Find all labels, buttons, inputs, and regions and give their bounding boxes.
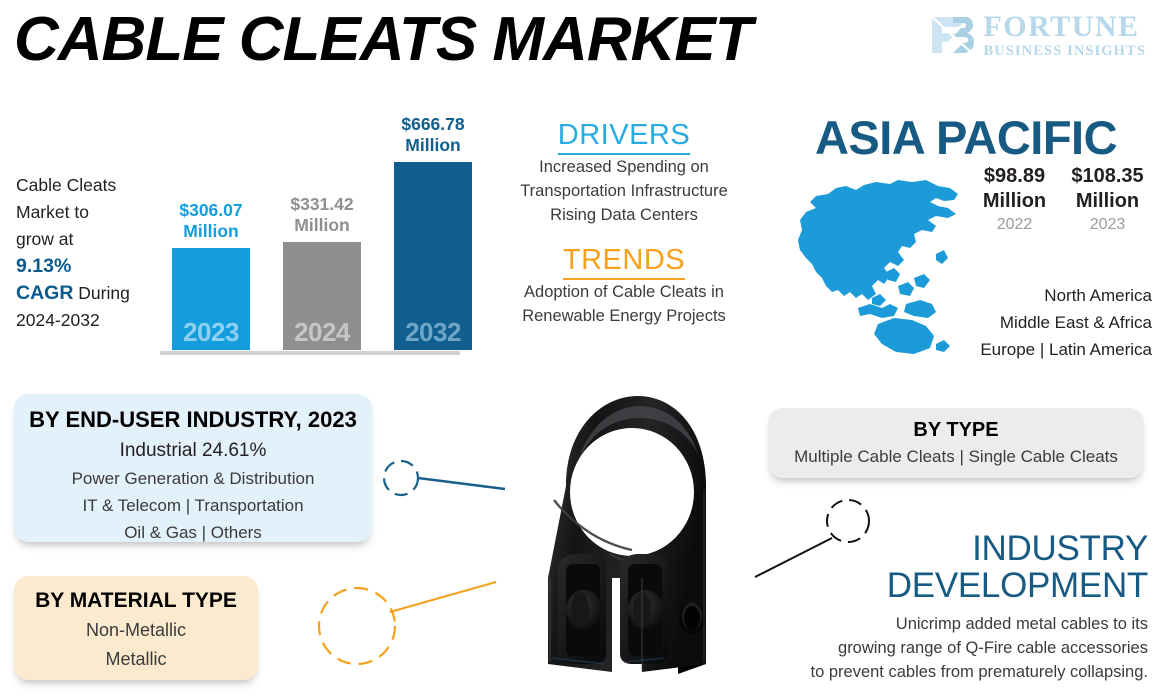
- by-type-box: BY TYPE Multiple Cable Cleats | Single C…: [768, 408, 1144, 478]
- chart-bars: 2023$306.07Million2024$331.42Million2032…: [160, 170, 460, 350]
- other-region-0: North America: [930, 282, 1152, 309]
- market-size-bar-chart: 2023$306.07Million2024$331.42Million2032…: [160, 118, 460, 358]
- by-end-user-industry-line-1: IT & Telecom | Transportation: [14, 492, 372, 519]
- brand-logo: FORTUNE BUSINESS INSIGHTS: [929, 12, 1146, 59]
- by-type-title: BY TYPE: [768, 408, 1144, 444]
- fortune-business-insights-logo-icon: [929, 13, 975, 57]
- drivers-item-1: Transportation Infrastructure: [478, 179, 770, 203]
- connector-enduser-circle-icon: [384, 461, 418, 495]
- spacer: [478, 227, 770, 243]
- cagr-line-1: Cable Cleats: [16, 175, 116, 195]
- industry-development-title-line-1: INDUSTRY: [780, 530, 1148, 567]
- chart-bar-value: $331.42: [290, 194, 353, 214]
- chart-bar-value: $666.78: [401, 114, 464, 134]
- cagr-rate: 9.13%: [16, 255, 71, 277]
- cagr-label: CAGR: [16, 282, 73, 304]
- brand-name-secondary: BUSINESS INSIGHTS: [983, 44, 1146, 59]
- region-figure-unit: Million: [972, 189, 1057, 214]
- industry-development-title-line-2: DEVELOPMENT: [780, 567, 1148, 604]
- chart-bar-group: 2023: [172, 170, 250, 350]
- other-regions-list: North America Middle East & Africa Europ…: [930, 282, 1152, 363]
- trends-heading: TRENDS: [563, 243, 685, 280]
- chart-bar-group: 2032: [394, 170, 472, 350]
- connector-material-circle-icon: [319, 588, 395, 664]
- chart-bar: 2024: [283, 242, 361, 350]
- page-title: CABLE CLEATS MARKET: [14, 4, 752, 75]
- region-figure-year: 2023: [1065, 214, 1150, 236]
- by-material-type-title: BY MATERIAL TYPE: [14, 576, 258, 616]
- region-title: ASIA PACIFIC: [780, 112, 1152, 164]
- infographic-canvas: CABLE CLEATS MARKET FORTUNE BUSINESS INS…: [0, 0, 1160, 700]
- chart-bar: 2032: [394, 162, 472, 350]
- drivers-trends-panel: DRIVERS Increased Spending on Transporta…: [478, 118, 770, 328]
- cagr-period: 2024-2032: [16, 310, 100, 330]
- region-figure-year: 2022: [972, 214, 1057, 236]
- by-end-user-industry-highlight: Industrial 24.61%: [14, 436, 372, 465]
- chart-bar-value: $306.07: [179, 200, 242, 220]
- region-figure-1: $108.35 Million 2023: [1065, 164, 1150, 236]
- region-figure-0: $98.89 Million 2022: [972, 164, 1057, 236]
- cagr-during: During: [78, 283, 130, 303]
- brand-logo-text: FORTUNE BUSINESS INSIGHTS: [983, 12, 1146, 59]
- cagr-line-3: grow at: [16, 229, 73, 249]
- by-material-type-line-0: Non-Metallic: [14, 616, 258, 645]
- region-figures: $98.89 Million 2022 $108.35 Million 2023: [972, 164, 1150, 236]
- industry-development-body: Unicrimp added metal cables to its growi…: [780, 612, 1148, 684]
- chart-bar: 2023: [172, 248, 250, 350]
- chart-bar-unit: Million: [294, 215, 349, 235]
- industry-development-body-line-2: growing range of Q-Fire cable accessorie…: [780, 636, 1148, 660]
- chart-bar-year-label: 2023: [172, 317, 250, 348]
- cable-cleat-product-icon: [492, 382, 764, 680]
- by-material-type-box: BY MATERIAL TYPE Non-Metallic Metallic: [14, 576, 258, 680]
- by-material-type-line-1: Metallic: [14, 645, 258, 674]
- chart-bar-unit: Million: [405, 135, 460, 155]
- region-figure-unit: Million: [1065, 189, 1150, 214]
- industry-development-body-line-1: Unicrimp added metal cables to its: [780, 612, 1148, 636]
- industry-development-body-line-3: to prevent cables from prematurely colla…: [780, 660, 1148, 684]
- by-end-user-industry-line-2: Oil & Gas | Others: [14, 519, 372, 546]
- other-region-1: Middle East & Africa: [930, 309, 1152, 336]
- region-panel: ASIA PACIFIC $98.89 Million 2022 $108.35: [780, 112, 1152, 164]
- brand-name-primary: FORTUNE: [983, 12, 1146, 42]
- trends-item-0: Adoption of Cable Cleats in: [478, 280, 770, 304]
- by-type-line-0: Multiple Cable Cleats | Single Cable Cle…: [768, 444, 1144, 470]
- chart-bar-value-label: $331.42Million: [262, 194, 382, 236]
- region-figure-value: $108.35: [1065, 164, 1150, 189]
- chart-bar-unit: Million: [183, 221, 238, 241]
- industry-development-panel: INDUSTRY DEVELOPMENT Unicrimp added meta…: [780, 530, 1148, 684]
- by-end-user-industry-title: BY END-USER INDUSTRY, 2023: [14, 394, 372, 436]
- drivers-item-2: Rising Data Centers: [478, 203, 770, 227]
- chart-bar-value-label: $306.07Million: [151, 200, 271, 242]
- by-end-user-industry-box: BY END-USER INDUSTRY, 2023 Industrial 24…: [14, 394, 372, 542]
- by-end-user-industry-line-0: Power Generation & Distribution: [14, 465, 372, 492]
- other-region-2: Europe | Latin America: [930, 336, 1152, 363]
- cagr-statement: Cable Cleats Market to grow at 9.13% CAG…: [16, 172, 166, 334]
- connector-material-line: [390, 582, 496, 612]
- chart-bar-value-label: $666.78Million: [373, 114, 493, 156]
- drivers-heading: DRIVERS: [558, 118, 690, 155]
- drivers-item-0: Increased Spending on: [478, 155, 770, 179]
- trends-item-1: Renewable Energy Projects: [478, 304, 770, 328]
- chart-bar-year-label: 2024: [283, 317, 361, 348]
- chart-baseline: [160, 351, 460, 355]
- cagr-line-2: Market to: [16, 202, 89, 222]
- region-figure-value: $98.89: [972, 164, 1057, 189]
- chart-bar-year-label: 2032: [394, 317, 472, 348]
